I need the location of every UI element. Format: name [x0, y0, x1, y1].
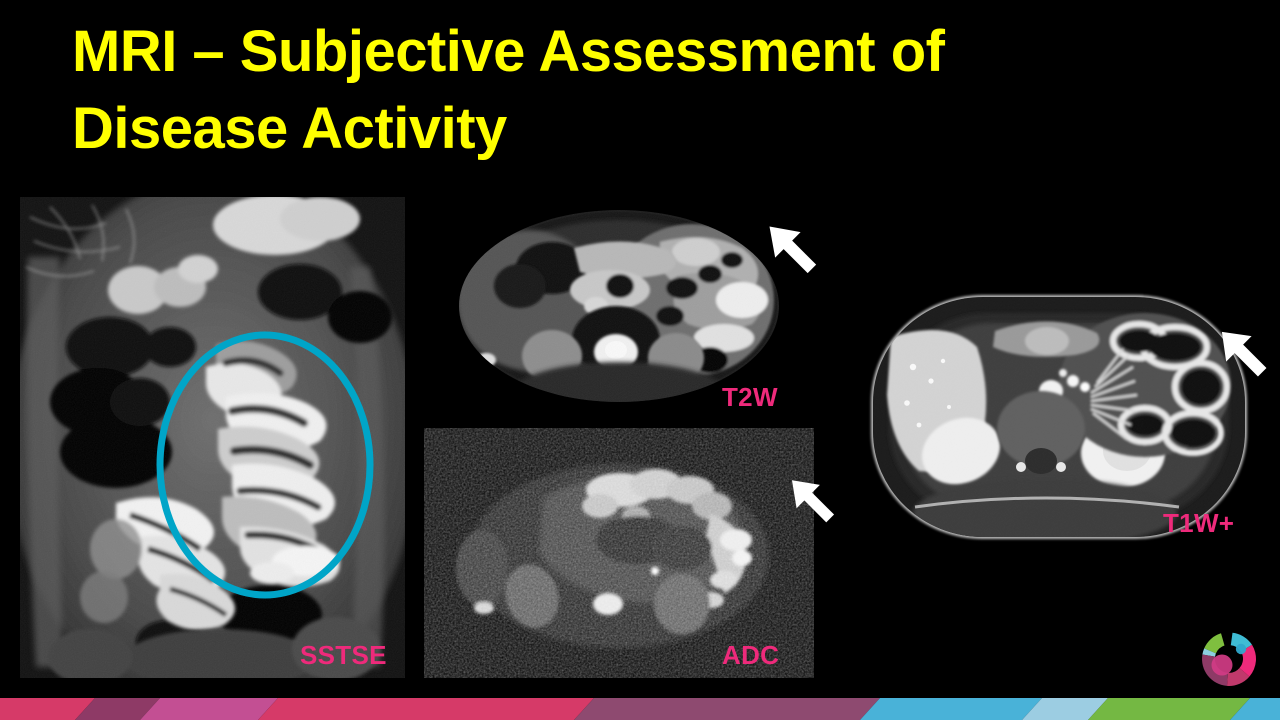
- sstse-image: [20, 197, 405, 678]
- organisation-logo: [1196, 626, 1262, 692]
- mri-panel-t2w[interactable]: [424, 190, 814, 422]
- page-title: MRI – Subjective Assessment of Disease A…: [72, 14, 1172, 167]
- mri-panel-t1w[interactable]: [845, 275, 1275, 560]
- t1w-image: [845, 275, 1275, 560]
- mri-panel-adc[interactable]: [424, 428, 814, 678]
- bar-segment-group: [0, 698, 1280, 720]
- slide-canvas: MRI – Subjective Assessment of Disease A…: [0, 0, 1280, 720]
- mri-panel-sstse[interactable]: [20, 197, 405, 678]
- t2w-image: [424, 190, 814, 422]
- bottom-color-bar: [0, 698, 1280, 720]
- adc-image: [424, 428, 814, 678]
- color-bar-segments: [0, 698, 1280, 720]
- segmented-ring-logo-icon: [1196, 626, 1262, 692]
